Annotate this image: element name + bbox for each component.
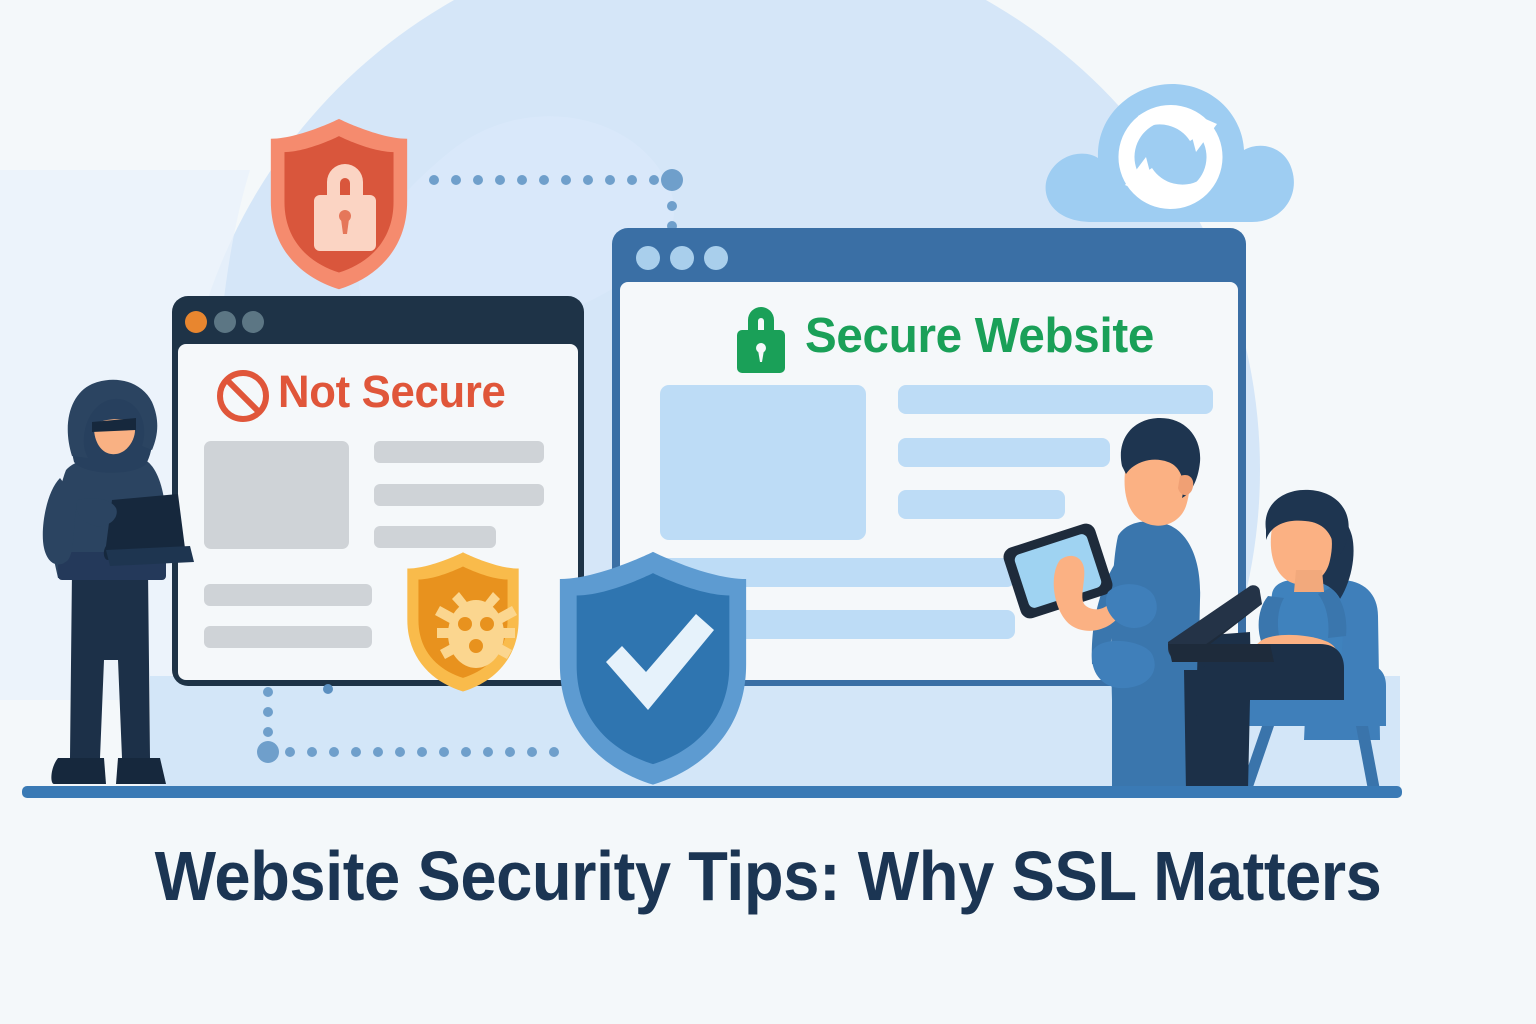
traffic-dot-close (185, 311, 207, 333)
insecure-browser-window[interactable] (172, 296, 584, 694)
traffic-dot-min (670, 246, 694, 270)
traffic-dot-min (214, 311, 236, 333)
secure-window-dots (636, 246, 728, 270)
placeholder-line (204, 584, 372, 606)
placeholder-image-block (204, 441, 349, 549)
seated-user-neck (1294, 570, 1324, 592)
placeholder-image-block (660, 385, 866, 540)
insecure-window-dots (185, 311, 264, 333)
illustration-canvas: Not Secure Secure Website Website Securi… (0, 0, 1536, 1024)
laptop-base (1168, 644, 1274, 662)
placeholder-line (374, 484, 544, 506)
hacker-shoe-right (116, 758, 166, 784)
traffic-dot-max (704, 246, 728, 270)
hacker-shoe-left (51, 758, 106, 784)
connector-node-top (661, 169, 683, 191)
page-title: Website Security Tips: Why SSL Matters (54, 836, 1482, 916)
placeholder-line (898, 438, 1110, 467)
traffic-dot-close (636, 246, 660, 270)
window-foot-dot (323, 684, 333, 694)
placeholder-line (204, 626, 372, 648)
placeholder-line (374, 441, 544, 463)
secure-status-label: Secure Website (805, 308, 1154, 364)
placeholder-line (898, 385, 1213, 414)
traffic-dot-max (242, 311, 264, 333)
placeholder-line (898, 490, 1065, 519)
ground-baseline (22, 786, 1402, 798)
insecure-status-label: Not Secure (278, 366, 506, 418)
connector-node-bottom (257, 741, 279, 763)
placeholder-line (374, 526, 496, 548)
